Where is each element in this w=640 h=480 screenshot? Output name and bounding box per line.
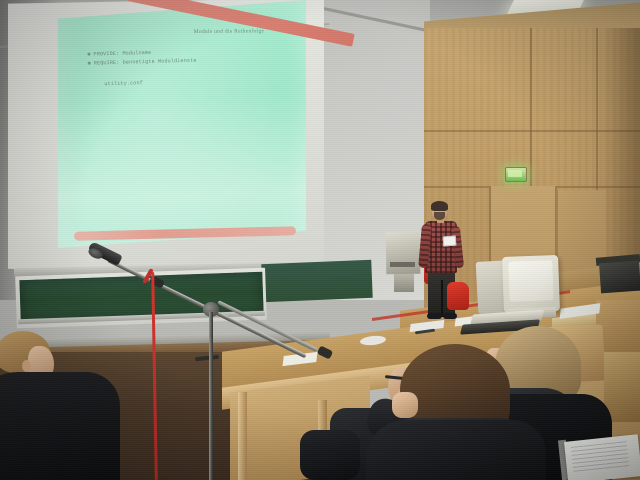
student-middle-body: [366, 420, 546, 480]
pc-stand: [394, 274, 414, 292]
student-left-ear: [22, 360, 31, 372]
slide-bullet-2-text: REQUIRE: benoetigte Moduldienste: [94, 58, 197, 67]
presenter-leg-seam: [441, 280, 443, 317]
slide-content: Module und die Reihenfolge PROVIDE: Modu…: [59, 13, 308, 130]
pc-tower: [386, 232, 421, 275]
crt-monitor-screen: [508, 260, 553, 302]
slide-bullet-1-text: PROVIDE: Modulname: [93, 50, 151, 58]
slide-extra-line: utility.conf: [104, 80, 143, 87]
presenter-name-badge: [443, 236, 457, 247]
lecture-hall-photo: Module und die Reihenfolge PROVIDE: Modu…: [0, 0, 640, 480]
chalkboard-right: [261, 260, 372, 302]
presenter-beard: [434, 212, 445, 220]
red-bag: [447, 282, 469, 310]
presenter-shoe: [427, 313, 442, 319]
presenter-hair: [431, 201, 448, 211]
slide-bullet-1: PROVIDE: Modulname: [87, 50, 151, 58]
student-left-body: [0, 372, 120, 480]
slide-title: Module und die Reihenfolge: [159, 28, 299, 35]
bullet-dot-icon: [88, 62, 91, 65]
presenter-shoe: [443, 313, 457, 319]
bullet-dot-icon: [87, 53, 90, 56]
pc-drive-slot: [390, 262, 415, 267]
desk-leg: [238, 392, 247, 480]
bag-on-floor: [300, 430, 360, 480]
slide-bullet-2: REQUIRE: benoetigte Moduldienste: [88, 58, 197, 67]
student-middle-hand: [392, 392, 418, 418]
exit-sign-face: [508, 170, 522, 177]
mic-stand-pole: [209, 312, 213, 480]
far-monitor: [599, 261, 640, 294]
